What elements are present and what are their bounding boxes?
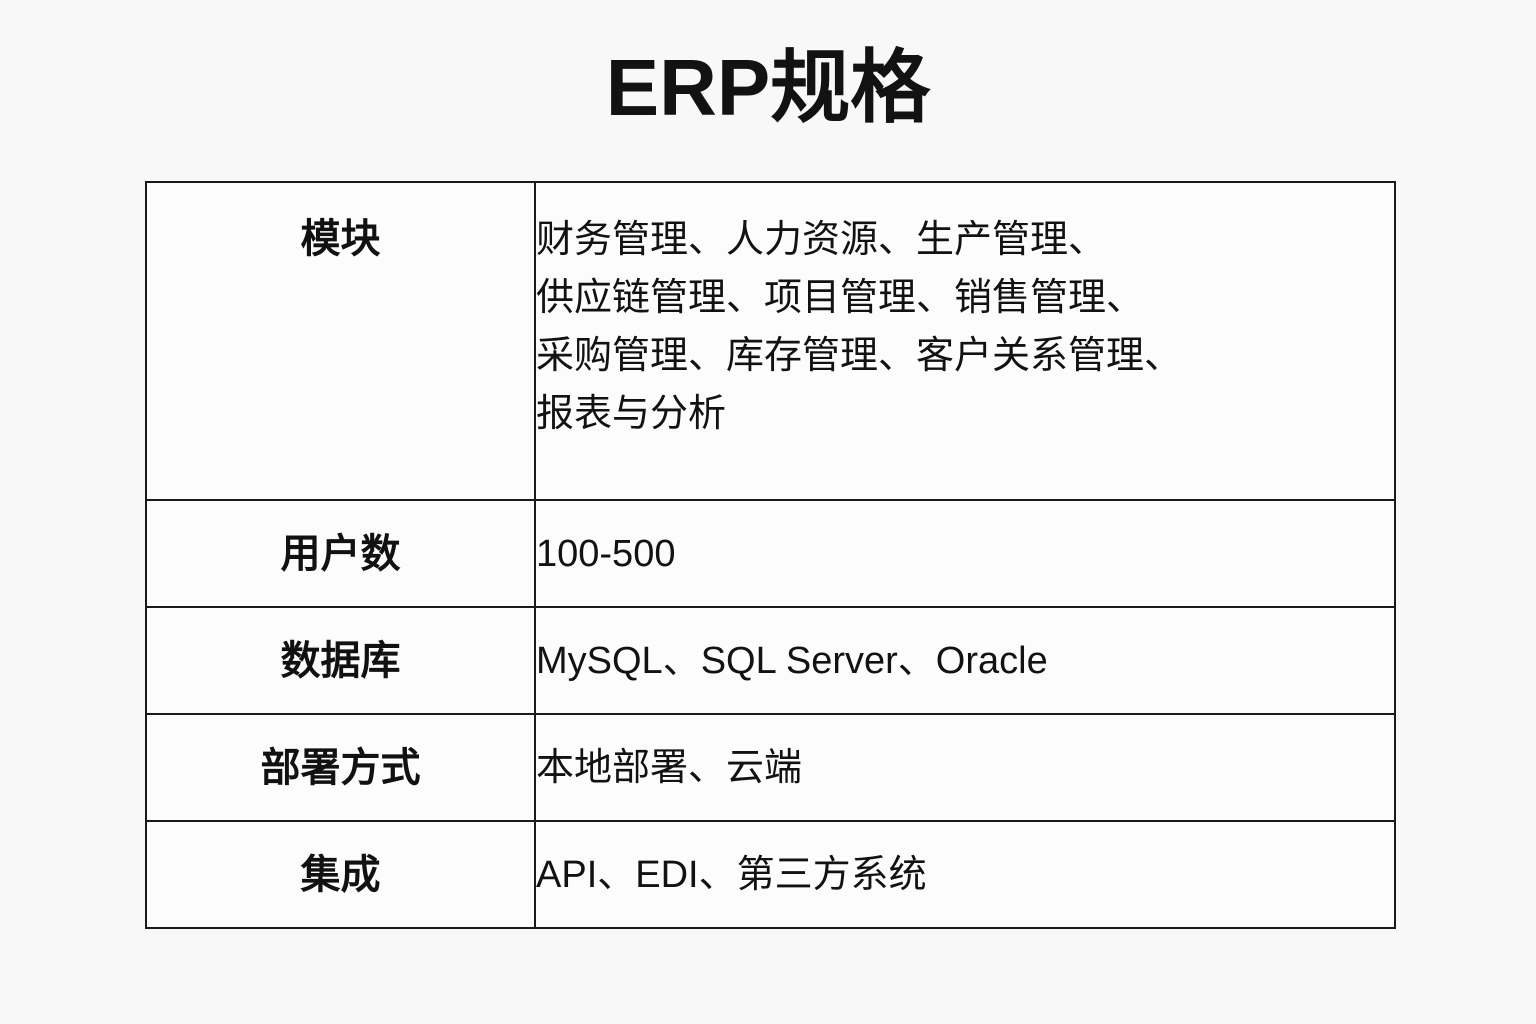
row-label-database: 数据库 [146,607,535,714]
table-row: 用户数 100-500 [146,500,1395,607]
row-label-integration: 集成 [146,821,535,928]
row-value-database: MySQL、SQL Server、Oracle [535,607,1395,714]
page-title: ERP规格 [0,38,1536,138]
row-label-deployment: 部署方式 [146,714,535,821]
row-value-deployment: 本地部署、云端 [535,714,1395,821]
table-row: 部署方式 本地部署、云端 [146,714,1395,821]
table-row: 模块 财务管理、人力资源、生产管理、 供应链管理、项目管理、销售管理、 采购管理… [146,182,1395,500]
row-value-integration: API、EDI、第三方系统 [535,821,1395,928]
spec-sheet-page: ERP规格 模块 财务管理、人力资源、生产管理、 供应链管理、项目管理、销售管理… [0,0,1536,1024]
table-row: 数据库 MySQL、SQL Server、Oracle [146,607,1395,714]
row-value-user-count: 100-500 [535,500,1395,607]
erp-spec-table: 模块 财务管理、人力资源、生产管理、 供应链管理、项目管理、销售管理、 采购管理… [145,181,1396,929]
row-label-user-count: 用户数 [146,500,535,607]
row-label-modules: 模块 [146,182,535,500]
table-row: 集成 API、EDI、第三方系统 [146,821,1395,928]
row-value-modules: 财务管理、人力资源、生产管理、 供应链管理、项目管理、销售管理、 采购管理、库存… [535,182,1395,500]
